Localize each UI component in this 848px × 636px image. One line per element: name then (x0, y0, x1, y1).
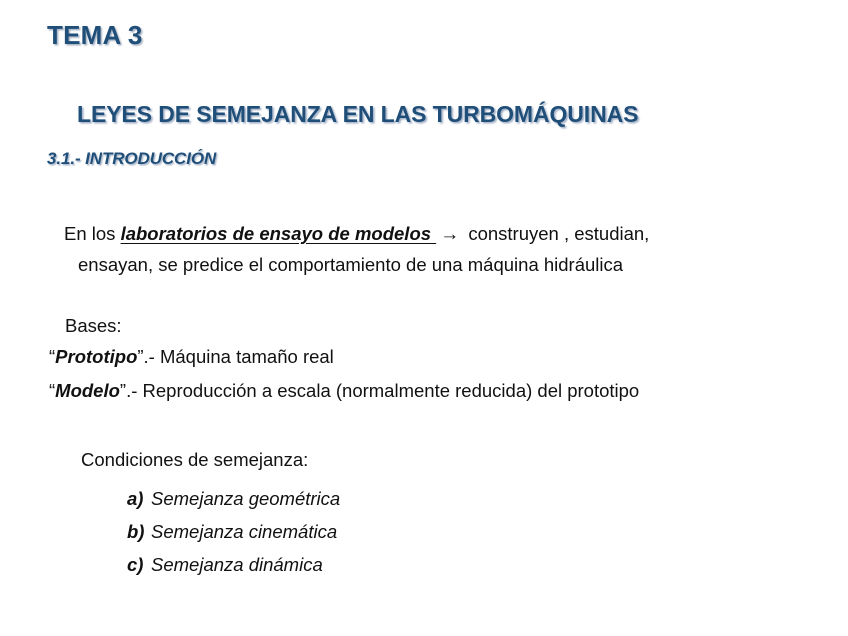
conditions-label: Condiciones de semejanza: (81, 449, 308, 471)
intro-suffix: construyen , estudian, (463, 223, 649, 244)
intro-prefix: En los (64, 223, 121, 244)
list-item-label: Semejanza cinemática (151, 521, 337, 542)
list-marker: b) (127, 515, 151, 548)
slide-canvas: TEMA 3 LEYES DE SEMEJANZA EN LAS TURBOMÁ… (0, 0, 848, 636)
list-item: c)Semejanza dinámica (127, 548, 340, 581)
definition-modelo-text: .- Reproducción a escala (normalmente re… (126, 380, 639, 401)
list-item-label: Semejanza geométrica (151, 488, 340, 509)
page-title: LEYES DE SEMEJANZA EN LAS TURBOMÁQUINAS (77, 101, 638, 128)
definition-prototipo-text: .- Máquina tamaño real (144, 346, 334, 367)
conditions-list: a)Semejanza geométrica b)Semejanza cinem… (127, 482, 340, 581)
list-item-label: Semejanza dinámica (151, 554, 323, 575)
term-modelo: Modelo (55, 380, 120, 401)
list-marker: c) (127, 548, 151, 581)
section-heading: 3.1.- INTRODUCCIÓN (47, 149, 216, 169)
bases-label: Bases: (65, 315, 122, 337)
list-item: b)Semejanza cinemática (127, 515, 340, 548)
chapter-title: TEMA 3 (47, 20, 143, 51)
intro-line-2: ensayan, se predice el comportamiento de… (64, 250, 764, 280)
intro-paragraph: En los laboratorios de ensayo de modelos… (64, 219, 764, 280)
intro-emphasis-term: laboratorios de ensayo de modelos (121, 223, 437, 244)
list-marker: a) (127, 482, 151, 515)
right-arrow-icon: → (436, 224, 463, 245)
term-prototipo: Prototipo (55, 346, 137, 367)
definition-modelo: “Modelo”.- Reproducción a escala (normal… (49, 380, 639, 402)
definition-prototipo: “Prototipo”.- Máquina tamaño real (49, 346, 334, 368)
list-item: a)Semejanza geométrica (127, 482, 340, 515)
